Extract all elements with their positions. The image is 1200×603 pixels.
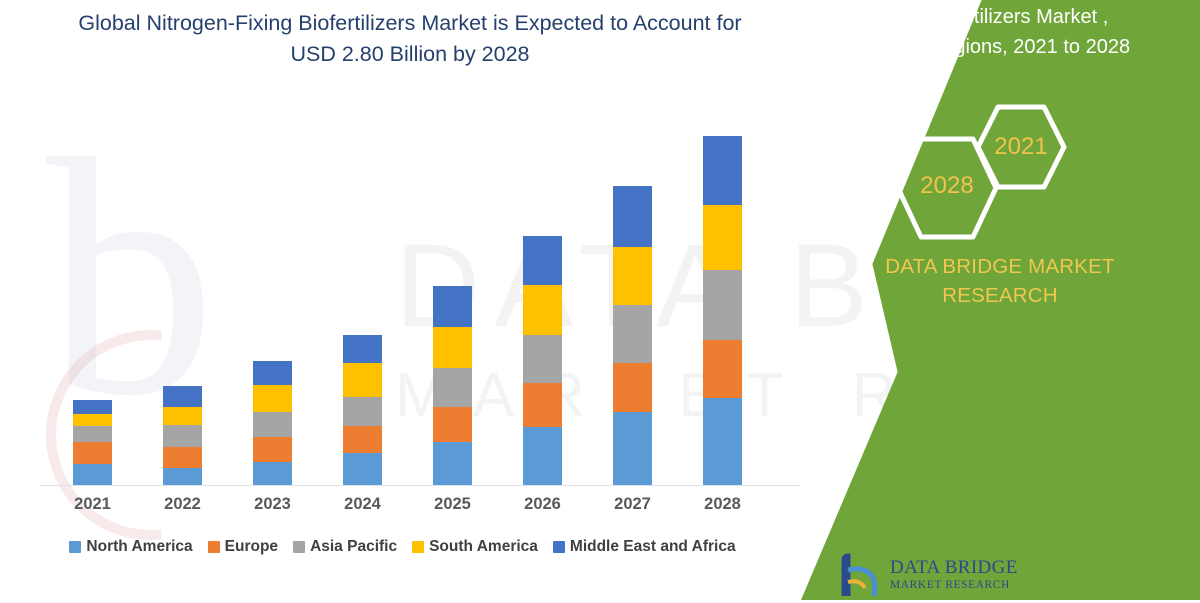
- green-panel-title: Global Nitrogen-Fixing Biofertilizers Ma…: [840, 0, 1190, 62]
- bar-segment: [253, 385, 292, 412]
- bar-2021: [73, 400, 112, 485]
- axis-baseline: [40, 485, 800, 486]
- bar-segment: [613, 186, 652, 247]
- green-title-line2: Biofertilizers Market ,: [840, 2, 1190, 32]
- bar-segment: [703, 340, 742, 398]
- legend-item[interactable]: South America: [412, 538, 538, 556]
- legend-item[interactable]: North America: [69, 538, 192, 556]
- legend-swatch-icon: [208, 541, 220, 553]
- brand-line1: DATA BRIDGE MARKET: [835, 252, 1165, 281]
- stacked-bar-plot: [40, 120, 800, 490]
- bar-segment: [253, 462, 292, 485]
- hexagon-2028: 2028: [892, 133, 1002, 243]
- bar-segment: [433, 407, 472, 442]
- brand-name: DATA BRIDGE MARKET RESEARCH: [835, 252, 1165, 310]
- bar-segment: [73, 400, 112, 414]
- bar-segment: [433, 442, 472, 485]
- bar-segment: [163, 407, 202, 425]
- bar-segment: [703, 205, 742, 270]
- x-label-2021: 2021: [53, 495, 133, 514]
- bar-2023: [253, 361, 292, 485]
- legend-swatch-icon: [553, 541, 565, 553]
- legend-item[interactable]: Asia Pacific: [293, 538, 397, 556]
- bar-segment: [163, 425, 202, 447]
- logo-tagline: MARKET RESEARCH: [890, 579, 1010, 592]
- x-label-2022: 2022: [143, 495, 223, 514]
- legend-label: South America: [429, 538, 538, 556]
- bar-segment: [433, 368, 472, 407]
- bar-segment: [343, 397, 382, 426]
- bar-2026: [523, 236, 562, 485]
- chart-panel: Global Nitrogen-Fixing Biofertilizers Ma…: [0, 0, 880, 600]
- legend-swatch-icon: [412, 541, 424, 553]
- hexagon-2028-label: 2028: [892, 172, 1002, 200]
- bar-segment: [253, 361, 292, 385]
- legend-swatch-icon: [69, 541, 81, 553]
- bridge-logo-icon: [838, 552, 882, 598]
- bar-segment: [523, 285, 562, 335]
- x-label-2026: 2026: [503, 495, 583, 514]
- x-label-2028: 2028: [683, 495, 763, 514]
- bar-segment: [253, 437, 292, 462]
- legend-label: Middle East and Africa: [570, 538, 736, 556]
- bar-segment: [613, 363, 652, 412]
- bar-segment: [73, 426, 112, 442]
- bar-segment: [613, 305, 652, 363]
- bar-2024: [343, 335, 382, 485]
- x-label-2025: 2025: [413, 495, 493, 514]
- brand-line2: RESEARCH: [835, 281, 1165, 310]
- chart-legend: North AmericaEuropeAsia PacificSouth Ame…: [0, 538, 805, 556]
- bar-segment: [433, 327, 472, 368]
- bar-2022: [163, 386, 202, 485]
- bar-segment: [163, 386, 202, 407]
- bar-segment: [343, 335, 382, 363]
- bar-segment: [523, 335, 562, 383]
- bar-segment: [523, 236, 562, 285]
- bar-segment: [613, 247, 652, 305]
- bar-segment: [73, 464, 112, 485]
- bar-segment: [703, 398, 742, 485]
- infographic-root: b DATA BR MARKET RESEARCH Global Nitroge…: [0, 0, 1200, 600]
- green-title-line3: By Regions, 2021 to 2028: [840, 32, 1190, 62]
- bar-2027: [613, 186, 652, 485]
- x-label-2024: 2024: [323, 495, 403, 514]
- bar-2025: [433, 286, 472, 485]
- legend-label: Asia Pacific: [310, 538, 397, 556]
- x-label-2023: 2023: [233, 495, 313, 514]
- bar-segment: [703, 270, 742, 340]
- legend-swatch-icon: [293, 541, 305, 553]
- dbmr-logo: DATA BRIDGE MARKET RESEARCH: [838, 552, 1078, 600]
- bar-segment: [523, 427, 562, 485]
- bar-segment: [73, 442, 112, 464]
- bar-segment: [343, 453, 382, 485]
- green-side-panel: Global Nitrogen-Fixing Biofertilizers Ma…: [780, 0, 1200, 600]
- bar-segment: [253, 412, 292, 437]
- legend-label: North America: [86, 538, 192, 556]
- legend-label: Europe: [225, 538, 278, 556]
- bar-segment: [343, 426, 382, 453]
- bar-segment: [343, 363, 382, 397]
- x-axis-labels: 20212022202320242025202620272028: [40, 495, 800, 523]
- x-label-2027: 2027: [593, 495, 673, 514]
- legend-item[interactable]: Middle East and Africa: [553, 538, 736, 556]
- bar-segment: [433, 286, 472, 327]
- bar-2028: [703, 136, 742, 485]
- bar-segment: [613, 412, 652, 485]
- bar-segment: [163, 468, 202, 485]
- bar-segment: [523, 383, 562, 427]
- chart-title: Global Nitrogen-Fixing Biofertilizers Ma…: [60, 8, 760, 70]
- bar-segment: [163, 447, 202, 468]
- bar-segment: [703, 136, 742, 205]
- legend-item[interactable]: Europe: [208, 538, 278, 556]
- bar-segment: [73, 414, 112, 426]
- logo-name: DATA BRIDGE: [890, 558, 1018, 578]
